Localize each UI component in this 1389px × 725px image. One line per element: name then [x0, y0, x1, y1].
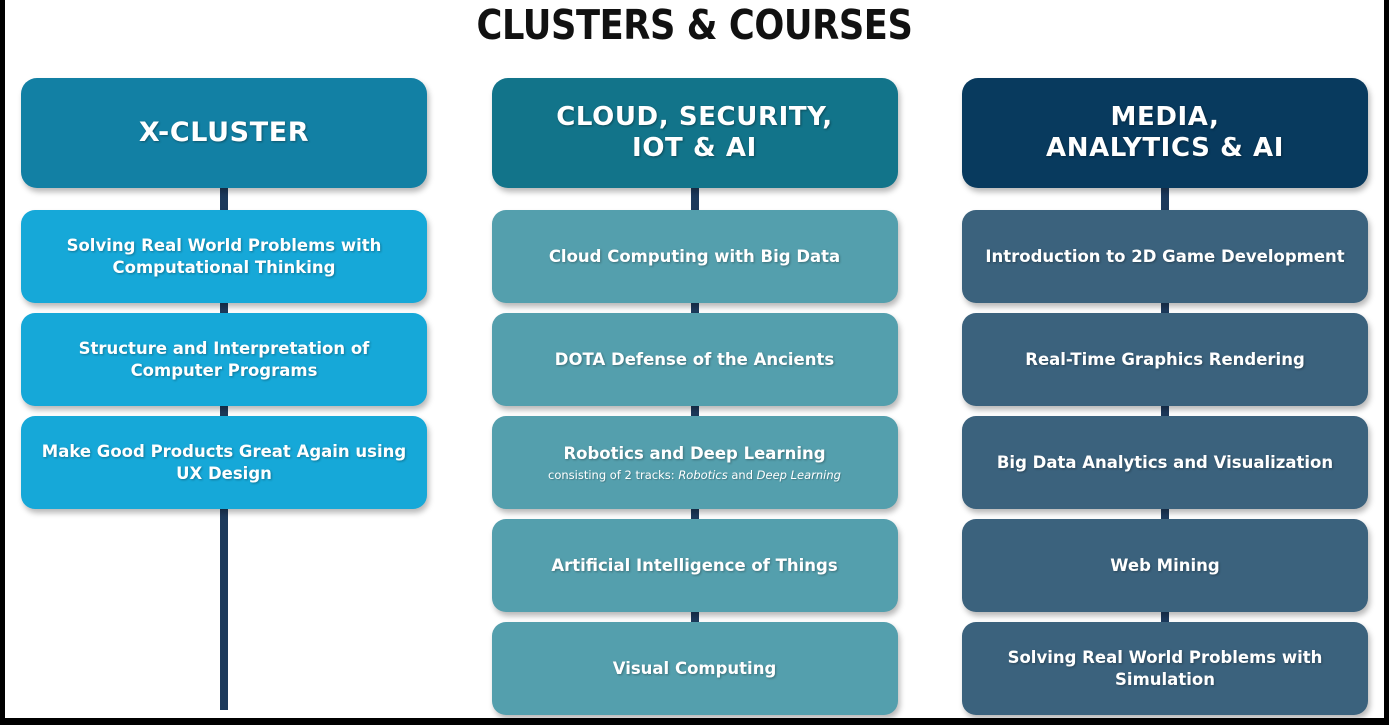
course-subtitle: consisting of 2 tracks: Robotics and Dee… — [548, 468, 841, 482]
cluster-header-label-line2: ANALYTICS & AI — [1046, 133, 1284, 164]
course-card[interactable]: Visual Computing — [492, 622, 898, 715]
course-title: Solving Real World Problems with Computa… — [35, 235, 413, 278]
course-subtitle-middle: and — [728, 468, 757, 482]
course-title: Cloud Computing with Big Data — [549, 246, 840, 267]
course-subtitle-track-1: Robotics — [678, 468, 727, 482]
course-card[interactable]: Web Mining — [962, 519, 1368, 612]
course-card[interactable]: Solving Real World Problems with Computa… — [21, 210, 427, 303]
cluster-header-label-line2: IOT & AI — [632, 133, 757, 164]
infographic-frame: CLUSTERS & COURSES X-CLUSTER Solving Rea… — [0, 0, 1389, 725]
course-title: DOTA Defense of the Ancients — [555, 349, 834, 370]
cluster-header-label-line1: MEDIA, — [1111, 102, 1220, 133]
course-card[interactable]: Artificial Intelligence of Things — [492, 519, 898, 612]
cluster-column-x-cluster: X-CLUSTER Solving Real World Problems wi… — [21, 78, 427, 718]
cluster-columns: X-CLUSTER Solving Real World Problems wi… — [5, 78, 1384, 718]
cluster-header-x-cluster[interactable]: X-CLUSTER — [21, 78, 427, 188]
course-title: Visual Computing — [613, 658, 777, 679]
course-title: Artificial Intelligence of Things — [551, 555, 837, 576]
course-card[interactable]: Structure and Interpretation of Computer… — [21, 313, 427, 406]
cluster-column-cloud-security-iot-ai: CLOUD, SECURITY, IOT & AI Cloud Computin… — [492, 78, 898, 718]
course-title: Make Good Products Great Again using UX … — [35, 441, 413, 484]
course-card[interactable]: Big Data Analytics and Visualization — [962, 416, 1368, 509]
course-title: Big Data Analytics and Visualization — [997, 452, 1333, 473]
course-card[interactable]: Robotics and Deep Learning consisting of… — [492, 416, 898, 509]
course-subtitle-track-2: Deep Learning — [757, 468, 841, 482]
cluster-header-label-line1: CLOUD, SECURITY, — [556, 102, 833, 133]
cluster-header-label: X-CLUSTER — [139, 117, 309, 149]
course-card[interactable]: DOTA Defense of the Ancients — [492, 313, 898, 406]
course-card[interactable]: Cloud Computing with Big Data — [492, 210, 898, 303]
course-card[interactable]: Solving Real World Problems with Simulat… — [962, 622, 1368, 715]
course-title: Introduction to 2D Game Development — [985, 246, 1344, 267]
course-card[interactable]: Introduction to 2D Game Development — [962, 210, 1368, 303]
cluster-header-media-analytics-ai[interactable]: MEDIA, ANALYTICS & AI — [962, 78, 1368, 188]
cluster-column-media-analytics-ai: MEDIA, ANALYTICS & AI Introduction to 2D… — [962, 78, 1368, 718]
cluster-header-cloud-security-iot-ai[interactable]: CLOUD, SECURITY, IOT & AI — [492, 78, 898, 188]
course-subtitle-prefix: consisting of 2 tracks: — [548, 468, 678, 482]
course-title: Solving Real World Problems with Simulat… — [976, 647, 1354, 690]
course-title: Structure and Interpretation of Computer… — [35, 338, 413, 381]
course-card[interactable]: Real-Time Graphics Rendering — [962, 313, 1368, 406]
course-title: Robotics and Deep Learning — [563, 443, 825, 464]
course-card[interactable]: Make Good Products Great Again using UX … — [21, 416, 427, 509]
course-title: Real-Time Graphics Rendering — [1025, 349, 1305, 370]
page-title: CLUSTERS & COURSES — [102, 0, 1288, 47]
course-title: Web Mining — [1110, 555, 1219, 576]
